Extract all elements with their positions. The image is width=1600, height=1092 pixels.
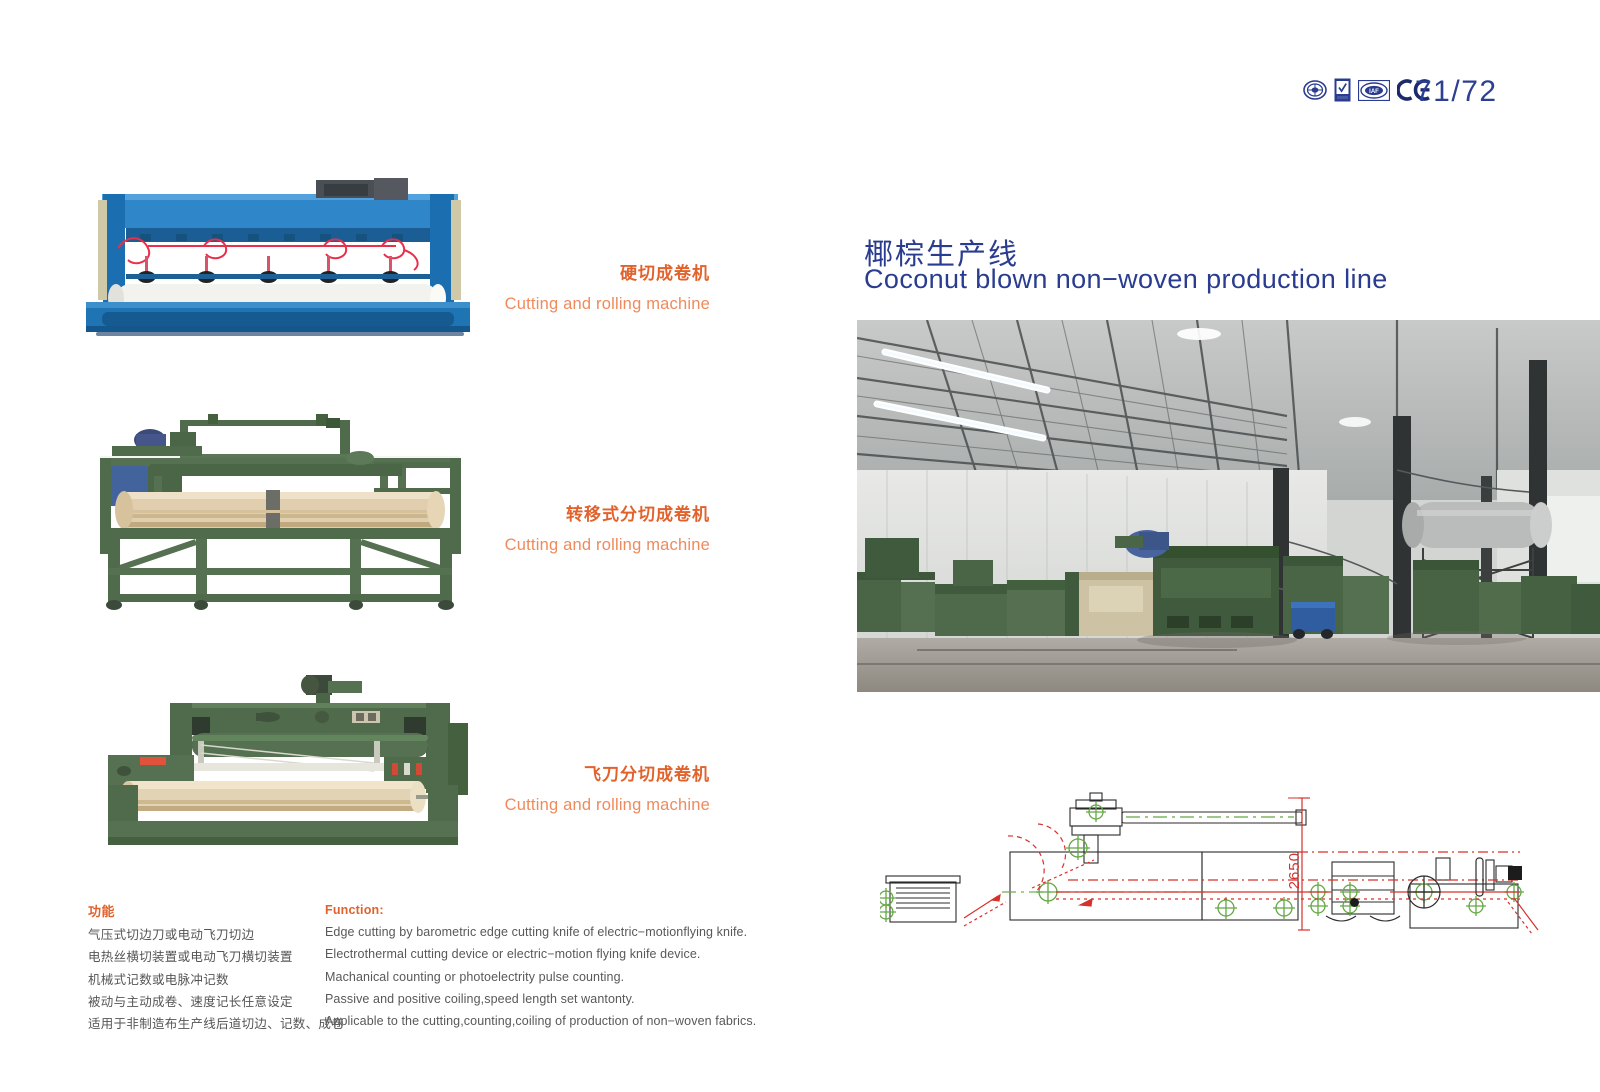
factory-interior-production-line-photo: [857, 320, 1600, 692]
certification-badges: IAF: [1303, 78, 1431, 102]
product-title-en-3: Cutting and rolling machine: [310, 792, 710, 818]
function-line-en: Machanical counting or photoelectrity pu…: [325, 966, 756, 988]
product-title-zh-2: 转移式分切成卷机: [310, 503, 710, 529]
iso-cert-icon: [1303, 78, 1327, 102]
function-line-zh: 适用于非制造布生产线后道切边、记数、成卷: [88, 1013, 344, 1035]
page-number: 71/72: [1415, 75, 1498, 109]
product-title-zh-1: 硬切成卷机: [310, 262, 710, 288]
function-line-zh: 电热丝横切装置或电动飞刀横切装置: [88, 946, 344, 968]
checkmark-cert-icon: [1334, 78, 1351, 102]
feature-title-en: Coconut blown non−woven production line: [864, 264, 1388, 295]
function-line-en: Passive and positive coiling,speed lengt…: [325, 988, 756, 1010]
function-heading-en: Function:: [325, 903, 756, 917]
function-line-en: Edge cutting by barometric edge cutting …: [325, 921, 756, 943]
function-heading-zh: 功能: [88, 901, 344, 920]
production-line-layout-drawing: [880, 780, 1540, 940]
function-line-zh: 机械式记数或电脉冲记数: [88, 969, 344, 991]
catalog-page: IAF 71/72: [0, 0, 1600, 1092]
product-title-en-1: Cutting and rolling machine: [310, 291, 710, 317]
svg-text:IAF: IAF: [1369, 89, 1379, 95]
product-title-zh-3: 飞刀分切成卷机: [310, 763, 710, 789]
dimension-label-2650: 2650: [1286, 852, 1303, 889]
function-block-en: Function: Edge cutting by barometric edg…: [325, 903, 756, 1032]
function-line-zh: 气压式切边刀或电动飞刀切边: [88, 924, 344, 946]
green-flying-knife-machine-photo: [88, 645, 473, 850]
function-line-zh: 被动与主动成卷、速度记长任意设定: [88, 991, 344, 1013]
function-block-zh: 功能 气压式切边刀或电动飞刀切边 电热丝横切装置或电动飞刀横切装置 机械式记数或…: [88, 901, 344, 1035]
function-line-en: Applicable to the cutting,counting,coili…: [325, 1010, 756, 1032]
product-caption-1: 硬切成卷机 Cutting and rolling machine: [310, 262, 710, 317]
iaf-cert-icon: IAF: [1358, 80, 1390, 101]
product-caption-2: 转移式分切成卷机 Cutting and rolling machine: [310, 503, 710, 558]
product-caption-3: 飞刀分切成卷机 Cutting and rolling machine: [310, 763, 710, 818]
product-title-en-2: Cutting and rolling machine: [310, 532, 710, 558]
function-line-en: Electrothermal cutting device or electri…: [325, 943, 756, 965]
